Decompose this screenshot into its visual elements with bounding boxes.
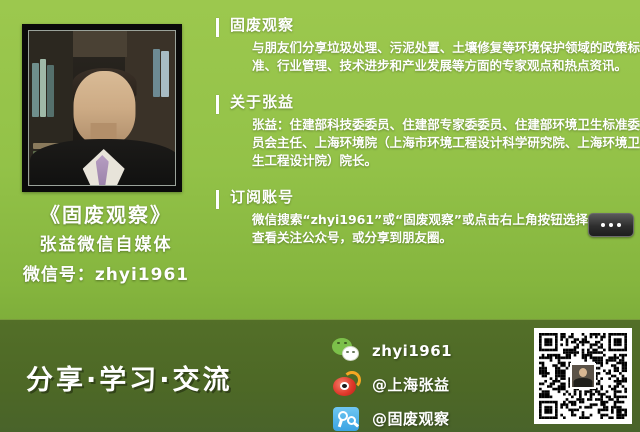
book [47, 65, 54, 117]
footer-bar: 分享·学习·交流 zhyi1961 [0, 319, 640, 432]
social-label: zhyi1961 [372, 342, 452, 360]
social-row-wechat[interactable]: zhyi1961 [332, 334, 502, 367]
right-column: 固废观察 与朋友们分享垃圾处理、污泥处置、土壤修复等环境保护领域的政策标准、行业… [214, 0, 640, 320]
shelf-top [73, 31, 127, 57]
promo-poster: 《固废观察》 张益微信自媒体 微信号：zhyi1961 固废观察 与朋友们分享垃… [0, 0, 640, 432]
left-column: 《固废观察》 张益微信自媒体 微信号：zhyi1961 [0, 0, 212, 320]
section-body: 与朋友们分享垃圾处理、污泥处置、土壤修复等环境保护领域的政策标准、行业管理、技术… [252, 39, 640, 75]
portrait-photo [29, 31, 175, 185]
section-tick-icon [216, 95, 219, 114]
section-about-zhangyi: 关于张益 张益：住建部科技委委员、住建部专家委委员、住建部环境卫生标准委员会主任… [214, 91, 640, 170]
caption-subtitle: 张益微信自媒体 [0, 230, 212, 260]
portrait-frame [22, 24, 182, 192]
ellipsis-icon [609, 223, 613, 227]
caption-wechat-id: 微信号：zhyi1961 [0, 260, 212, 290]
qr-center-avatar [570, 363, 596, 389]
social-list: zhyi1961 @上海张益 @固废观 [332, 334, 502, 432]
social-row-tencent-weibo[interactable]: @固废观察 [332, 402, 502, 432]
section-title: 关于张益 [230, 91, 640, 113]
caption-block: 《固废观察》 张益微信自媒体 微信号：zhyi1961 [0, 200, 212, 290]
section-tick-icon [216, 190, 219, 209]
book [161, 51, 169, 97]
social-row-weibo[interactable]: @上海张益 [332, 368, 502, 401]
book [153, 49, 160, 97]
section-subscribe: 订阅账号 微信搜索“zhyi1961”或“固废观察”或点击右上角按钮选择查看关注… [214, 186, 640, 247]
caption-title: 《固废观察》 [0, 200, 212, 230]
book [32, 63, 39, 117]
section-tick-icon [216, 18, 219, 37]
section-body: 张益：住建部科技委委员、住建部专家委委员、住建部环境卫生标准委员会主任、上海环境… [252, 116, 640, 170]
social-label: @固废观察 [372, 408, 450, 429]
social-label: @上海张益 [372, 374, 450, 395]
portrait-inner [28, 30, 176, 186]
footer-slogan: 分享·学习·交流 [26, 358, 233, 397]
tencent-weibo-icon [332, 404, 362, 432]
book [40, 59, 46, 117]
ellipsis-icon [617, 223, 621, 227]
section-title: 订阅账号 [230, 186, 640, 208]
section-title: 固废观察 [230, 14, 640, 36]
section-guanfei-guancha: 固废观察 与朋友们分享垃圾处理、污泥处置、土壤修复等环境保护领域的政策标准、行业… [214, 14, 640, 75]
ellipsis-icon [601, 223, 605, 227]
qr-code-block[interactable] [534, 328, 632, 424]
more-options-button[interactable] [588, 213, 634, 237]
weibo-icon [332, 370, 362, 400]
wechat-icon [332, 336, 362, 366]
section-body: 微信搜索“zhyi1961”或“固废观察”或点击右上角按钮选择查看关注公众号，或… [252, 211, 588, 247]
